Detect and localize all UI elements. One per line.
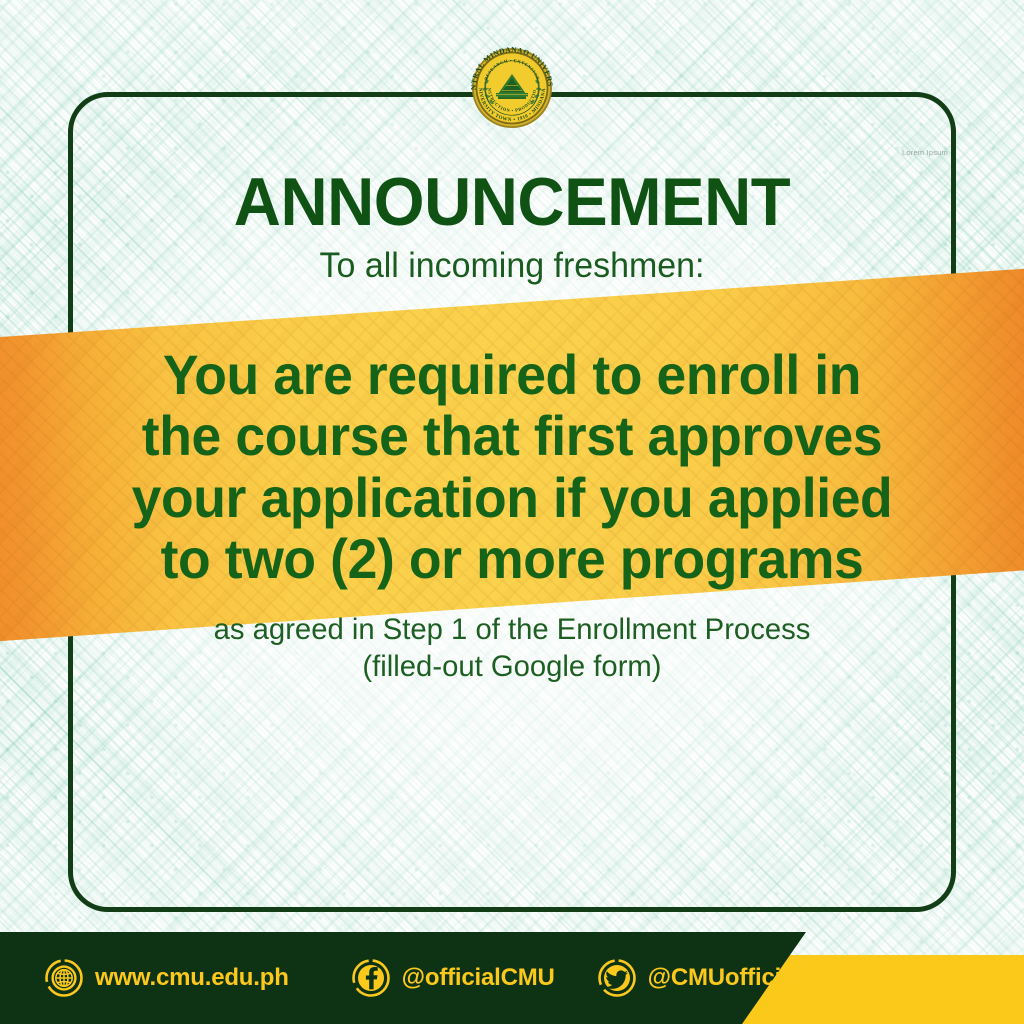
globe-icon bbox=[44, 958, 84, 998]
twitter-icon bbox=[597, 958, 637, 998]
central-mindanao-university-seal-icon: CENTRAL MINDANAO UNIVERSITY UNIVERSITY T… bbox=[462, 32, 562, 142]
footer-item-facebook[interactable]: @officialCMU bbox=[351, 958, 555, 998]
lorem-ipsum-micro-text: Lorem Ipsum bbox=[902, 148, 948, 157]
announcement-poster: CENTRAL MINDANAO UNIVERSITY UNIVERSITY T… bbox=[0, 0, 1024, 1024]
footer-item-label: www.cmu.edu.ph bbox=[95, 964, 289, 992]
footer-item-twitter[interactable]: @CMUofficial bbox=[597, 958, 801, 998]
page-title: ANNOUNCEMENT bbox=[20, 168, 1003, 236]
main-message-line: You are required to enroll in bbox=[23, 344, 1001, 405]
headline-block: ANNOUNCEMENT To all incoming freshmen: bbox=[0, 168, 1024, 285]
footer-item-website[interactable]: www.cmu.edu.ph bbox=[44, 958, 289, 998]
page-subtitle: To all incoming freshmen: bbox=[15, 248, 1008, 285]
main-message-line: the course that first approves bbox=[23, 405, 1001, 466]
footnote-line: as agreed in Step 1 of the Enrollment Pr… bbox=[13, 612, 1011, 649]
footer-item-label: @officialCMU bbox=[402, 964, 555, 992]
main-message: You are required to enroll in the course… bbox=[23, 344, 1001, 589]
footer-contact-list: www.cmu.edu.ph @officialCMU @CMUoffi bbox=[0, 932, 1024, 1024]
footer-item-label: @CMUofficial bbox=[648, 964, 801, 992]
main-message-line: your application if you applied bbox=[23, 467, 1001, 528]
facebook-icon bbox=[351, 958, 391, 998]
footnote-text: as agreed in Step 1 of the Enrollment Pr… bbox=[13, 612, 1011, 685]
main-message-line: to two (2) or more programs bbox=[23, 528, 1001, 589]
footnote-line: (filled-out Google form) bbox=[13, 649, 1011, 686]
